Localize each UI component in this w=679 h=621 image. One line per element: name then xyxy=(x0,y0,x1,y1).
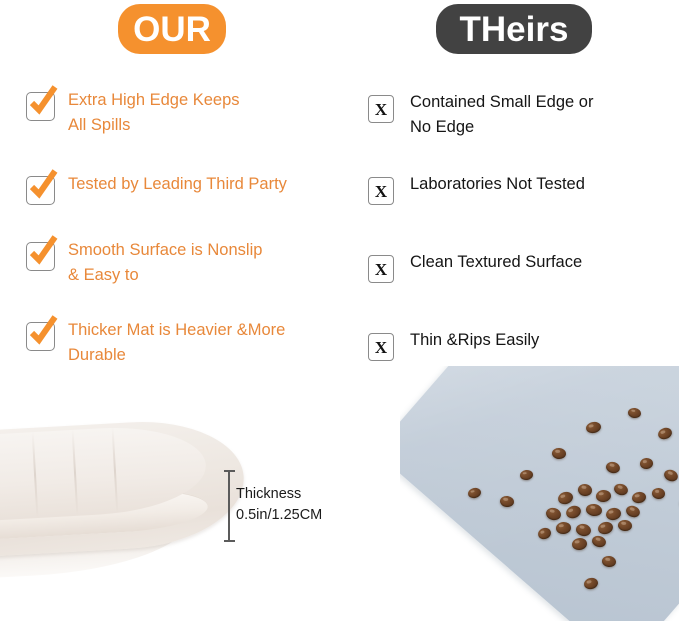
ours-feature-row-3: Smooth Surface is Nonslip & Easy to xyxy=(26,238,262,288)
x-icon: X xyxy=(368,333,394,361)
x-icon: X xyxy=(368,177,394,205)
cream-mat-rib xyxy=(72,430,78,516)
dimension-line xyxy=(228,470,230,542)
header-badge-ours-label: OUR xyxy=(133,12,211,47)
theirs-feature-row-4: X Thin &Rips Easily xyxy=(368,328,539,361)
header-badge-ours: OUR xyxy=(118,4,226,54)
theirs-feature-text-1-line2: No Edge xyxy=(410,118,474,136)
cream-mat-rib xyxy=(112,428,118,514)
ours-feature-text-1: Extra High Edge Keeps All Spills xyxy=(68,88,240,138)
ours-feature-text-4: Thicker Mat is Heavier &More Durable xyxy=(68,318,285,368)
ours-feature-text-4-line2: Durable xyxy=(68,346,126,364)
ours-feature-row-1: Extra High Edge Keeps All Spills xyxy=(26,88,240,138)
ours-feature-text-3: Smooth Surface is Nonslip & Easy to xyxy=(68,238,262,288)
theirs-feature-text-1: Contained Small Edge or No Edge xyxy=(410,90,593,140)
header-badge-theirs-label: THeirs xyxy=(460,12,569,47)
theirs-feature-text-3-line1: Clean Textured Surface xyxy=(410,253,582,271)
thickness-value: 0.5in/1.25CM xyxy=(236,507,322,523)
ours-feature-text-2-line1: Tested by Leading Third Party xyxy=(68,175,287,193)
ours-feature-text-2: Tested by Leading Third Party xyxy=(68,172,287,197)
dimension-cap-bottom xyxy=(224,540,235,542)
check-icon xyxy=(26,92,55,121)
ours-feature-text-1-line1: Extra High Edge Keeps xyxy=(68,91,240,109)
theirs-feature-text-4: Thin &Rips Easily xyxy=(410,328,539,353)
cream-mat-edge-photo xyxy=(0,424,244,579)
blue-mat-with-kibble-photo xyxy=(400,366,679,621)
comparison-infographic: OUR THeirs Extra High Edge Keeps All Spi… xyxy=(0,0,679,621)
theirs-feature-text-4-line1: Thin &Rips Easily xyxy=(410,331,539,349)
cream-mat-rib xyxy=(32,432,38,518)
header-badge-theirs: THeirs xyxy=(436,4,592,54)
check-icon xyxy=(26,322,55,351)
check-icon xyxy=(26,242,55,271)
x-icon: X xyxy=(368,255,394,283)
check-icon xyxy=(26,176,55,205)
theirs-feature-row-3: X Clean Textured Surface xyxy=(368,250,582,283)
theirs-feature-row-1: X Contained Small Edge or No Edge xyxy=(368,90,593,140)
ours-feature-text-3-line1: Smooth Surface is Nonslip xyxy=(68,241,262,259)
x-icon: X xyxy=(368,95,394,123)
dimension-cap-top xyxy=(224,470,235,472)
ours-feature-text-1-line2: All Spills xyxy=(68,116,130,134)
thickness-title: Thickness xyxy=(236,486,301,502)
theirs-feature-text-2: Laboratories Not Tested xyxy=(410,172,585,197)
theirs-feature-row-2: X Laboratories Not Tested xyxy=(368,172,585,205)
ours-feature-text-3-line2: & Easy to xyxy=(68,266,139,284)
ours-feature-row-2: Tested by Leading Third Party xyxy=(26,172,287,205)
thickness-label: Thickness 0.5in/1.25CM xyxy=(236,484,322,526)
theirs-feature-text-2-line1: Laboratories Not Tested xyxy=(410,175,585,193)
ours-feature-text-4-line1: Thicker Mat is Heavier &More xyxy=(68,321,285,339)
theirs-feature-text-3: Clean Textured Surface xyxy=(410,250,582,275)
ours-feature-row-4: Thicker Mat is Heavier &More Durable xyxy=(26,318,285,368)
theirs-feature-text-1-line1: Contained Small Edge or xyxy=(410,93,593,111)
